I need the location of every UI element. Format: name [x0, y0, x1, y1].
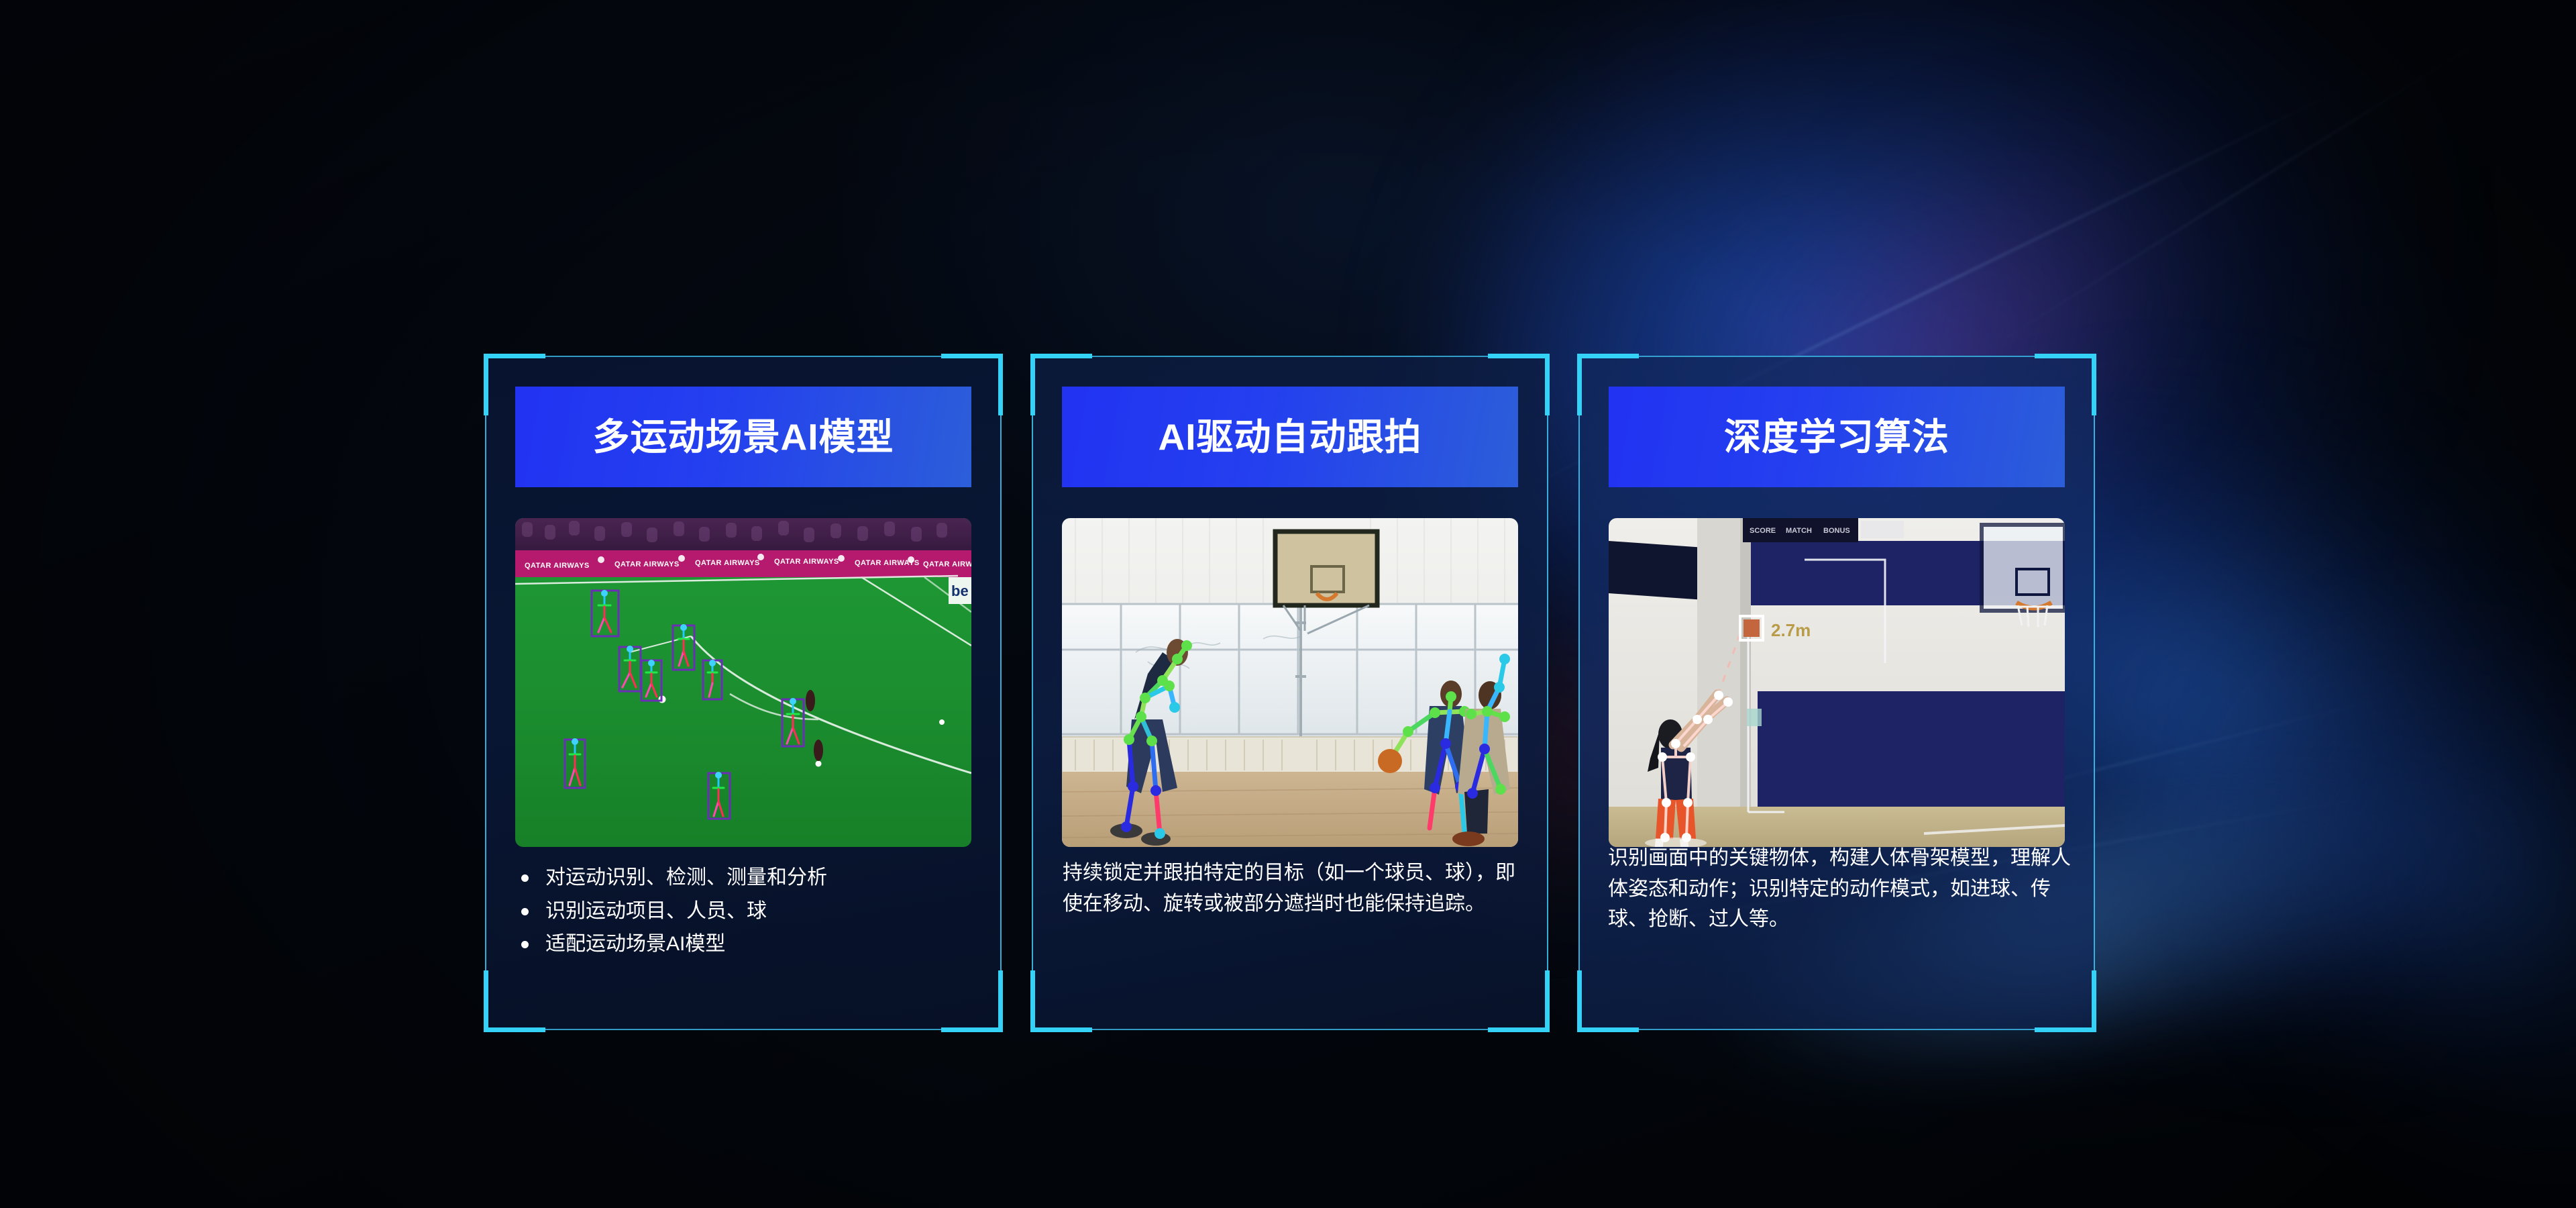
card-body: 对运动识别、检测、测量和分析 识别运动项目、人员、球 适配运动场景AI模型 [511, 862, 985, 962]
card-border-left [1032, 356, 1033, 1030]
card-border-left [1578, 356, 1580, 1030]
feature-card-ai-auto-tracking[interactable]: AI驱动自动跟拍 [1032, 356, 1548, 1030]
svg-text:BONUS: BONUS [1823, 527, 1850, 535]
card-title: 多运动场景AI模型 [592, 419, 894, 456]
svg-text:MATCH: MATCH [1786, 527, 1812, 535]
card-title: 深度学习算法 [1724, 419, 1949, 456]
svg-text:QATAR AIRWAYS: QATAR AIRWAYS [774, 558, 839, 566]
svg-text:SCORE: SCORE [1750, 527, 1776, 535]
list-item: 对运动识别、检测、测量和分析 [511, 862, 985, 893]
soccer-pitch-detection-thumbnail[interactable]: QATAR AIRWAYS QATAR AIRWAYS QATAR AIRWAY… [515, 518, 971, 847]
feature-card-multi-sport-ai-model[interactable]: 多运动场景AI模型 [485, 356, 1002, 1030]
card-border-bottom [1032, 1029, 1548, 1030]
card-title: AI驱动自动跟拍 [1158, 419, 1421, 456]
list-item: 识别运动项目、人员、球 [511, 896, 985, 927]
card-border-top [1032, 356, 1548, 357]
card-body: 持续锁定并跟拍特定的目标（如一个球员、球），即使在移动、旋转或被部分遮挡时也能保… [1059, 858, 1532, 919]
svg-text:QATAR AIRWAYS: QATAR AIRWAYS [923, 560, 971, 568]
svg-text:QATAR AIRWAYS: QATAR AIRWAYS [695, 559, 760, 567]
card-description: 持续锁定并跟拍特定的目标（如一个球员、球），即使在移动、旋转或被部分遮挡时也能保… [1059, 858, 1532, 919]
card-border-right [1000, 356, 1002, 1030]
card-header-banner: AI驱动自动跟拍 [1062, 387, 1518, 487]
card-header-banner: 深度学习算法 [1609, 387, 2065, 487]
basketball-shot-measurement-thumbnail[interactable]: SCOREMATCHBONUS [1609, 518, 2065, 847]
card-border-bottom [485, 1029, 1002, 1030]
measurement-label: 2.7m [1771, 620, 1811, 640]
card-border-right [1547, 356, 1548, 1030]
card-border-top [1578, 356, 2095, 357]
card-border-bottom [1578, 1029, 2095, 1030]
feature-card-deep-learning-algorithm[interactable]: 深度学习算法 [1578, 356, 2095, 1030]
svg-text:QATAR AIRWAYS: QATAR AIRWAYS [614, 560, 680, 568]
indoor-basketball-pose-thumbnail[interactable] [1062, 518, 1518, 847]
card-header-banner: 多运动场景AI模型 [515, 387, 971, 487]
card-border-left [485, 356, 486, 1030]
svg-text:be: be [951, 583, 969, 599]
card-body: 识别画面中的关键物体，构建人体骨架模型，理解人体姿态和动作；识别特定的动作模式，… [1604, 843, 2079, 935]
card-border-top [485, 356, 1002, 357]
feature-card-row: 多运动场景AI模型 [0, 0, 2576, 1208]
card-border-right [2094, 356, 2095, 1030]
svg-text:QATAR AIRWAYS: QATAR AIRWAYS [525, 562, 590, 570]
feature-bullet-list: 对运动识别、检测、测量和分析 识别运动项目、人员、球 适配运动场景AI模型 [511, 862, 985, 960]
list-item: 适配运动场景AI模型 [511, 929, 985, 960]
card-description: 识别画面中的关键物体，构建人体骨架模型，理解人体姿态和动作；识别特定的动作模式，… [1604, 843, 2079, 935]
